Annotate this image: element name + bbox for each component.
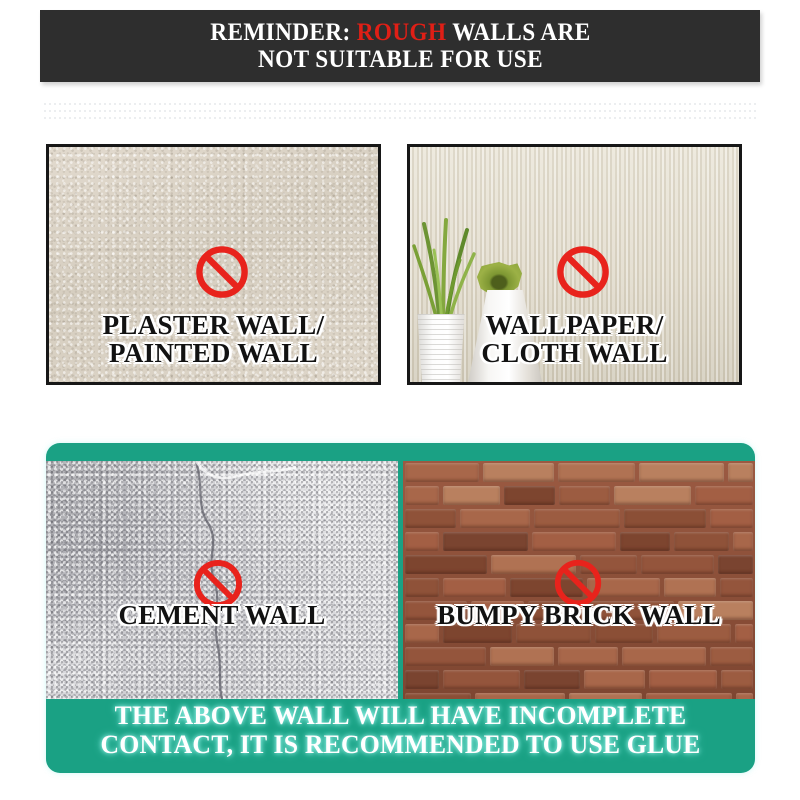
brick-row	[403, 645, 755, 668]
brick	[475, 693, 565, 699]
dotted-divider-1	[44, 103, 758, 105]
brick-row	[403, 507, 755, 530]
reminder-header-text: REMINDER: ROUGH WALLS ARE NOT SUITABLE F…	[210, 19, 590, 73]
caption-brick-line1: BUMPY BRICK WALL	[437, 600, 721, 630]
header-suffix: WALLS ARE	[446, 19, 590, 46]
brick	[622, 647, 706, 666]
brick	[490, 647, 554, 666]
brick	[559, 486, 609, 505]
brick	[620, 532, 670, 551]
brick	[728, 463, 753, 482]
brick	[405, 670, 439, 689]
brick-row	[403, 484, 755, 507]
brick	[443, 486, 500, 505]
brick	[736, 693, 753, 699]
caption-plaster-wall: PLASTER WALL/ PAINTED WALL	[46, 312, 381, 367]
brick-row	[403, 668, 755, 691]
prohibition-sign-icon	[554, 243, 612, 301]
brick	[405, 647, 486, 666]
brick	[405, 463, 479, 482]
brick	[614, 486, 691, 505]
header-line2: NOT SUITABLE FOR USE	[257, 46, 542, 73]
bottom-banner-caption: THE ABOVE WALL WILL HAVE INCOMPLETE CONT…	[57, 701, 745, 759]
brick-row	[403, 530, 755, 553]
caption-wallpaper-line1: WALLPAPER/	[485, 310, 663, 340]
brick	[483, 463, 554, 482]
brick	[534, 509, 620, 528]
brick-row	[403, 461, 755, 484]
brick	[405, 509, 456, 528]
brick	[718, 555, 753, 574]
brick	[639, 463, 724, 482]
bottom-caption-line2: CONTACT, IT IS RECOMMENDED TO USE GLUE	[101, 729, 701, 759]
brick	[646, 693, 732, 699]
brick-row	[403, 691, 755, 699]
brick	[524, 670, 580, 689]
brick	[710, 647, 753, 666]
brick	[558, 647, 617, 666]
brick	[720, 578, 753, 597]
brick	[443, 532, 528, 551]
brick	[443, 578, 506, 597]
brick	[649, 670, 717, 689]
brick	[721, 670, 753, 689]
brick	[405, 532, 439, 551]
caption-wallpaper-cloth-wall: WALLPAPER/ CLOTH WALL	[407, 312, 742, 367]
caption-cement-line1: CEMENT WALL	[118, 600, 325, 630]
brick	[695, 486, 753, 505]
bottom-caption-line1: THE ABOVE WALL WILL HAVE INCOMPLETE	[115, 700, 687, 730]
brick	[504, 486, 555, 505]
header-highlight-rough: ROUGH	[356, 19, 446, 46]
brick	[624, 509, 706, 528]
brick	[405, 486, 439, 505]
reminder-header-bar: REMINDER: ROUGH WALLS ARE NOT SUITABLE F…	[40, 10, 760, 82]
caption-plaster-line1: PLASTER WALL/	[103, 310, 325, 340]
brick	[405, 693, 471, 699]
brick	[558, 463, 635, 482]
header-prefix: REMINDER:	[210, 19, 356, 46]
caption-plaster-line2: PAINTED WALL	[109, 338, 318, 368]
brick	[710, 509, 753, 528]
grass-plant-icon	[410, 212, 476, 324]
dotted-divider-2	[44, 110, 758, 112]
brick	[641, 555, 714, 574]
brick	[405, 555, 487, 574]
brick	[569, 693, 642, 699]
caption-cement-wall: CEMENT WALL	[46, 602, 398, 630]
brick	[664, 578, 716, 597]
caption-bumpy-brick-wall: BUMPY BRICK WALL	[403, 602, 755, 630]
brick	[674, 532, 729, 551]
brick	[584, 670, 645, 689]
brick	[733, 532, 753, 551]
brick	[405, 578, 439, 597]
dotted-divider-3	[44, 117, 758, 119]
brick	[443, 670, 520, 689]
prohibition-sign-icon	[193, 243, 251, 301]
brick	[460, 509, 529, 528]
brick	[532, 532, 616, 551]
caption-wallpaper-line2: CLOTH WALL	[481, 338, 667, 368]
